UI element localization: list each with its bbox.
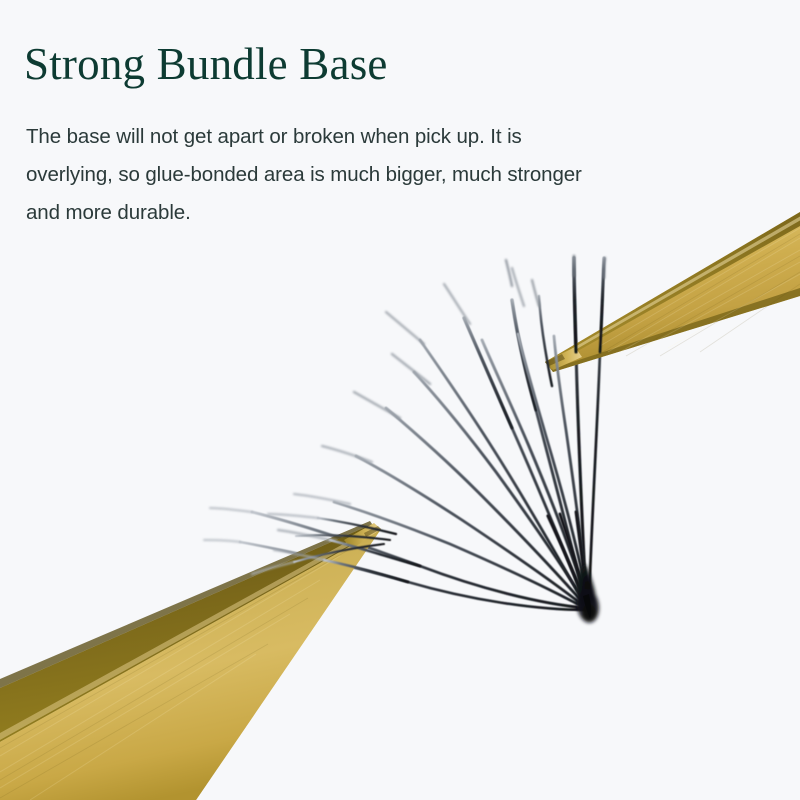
lash-fan-tweezers-photo xyxy=(0,0,800,800)
product-feature-card: Strong Bundle Base The base will not get… xyxy=(0,0,800,800)
